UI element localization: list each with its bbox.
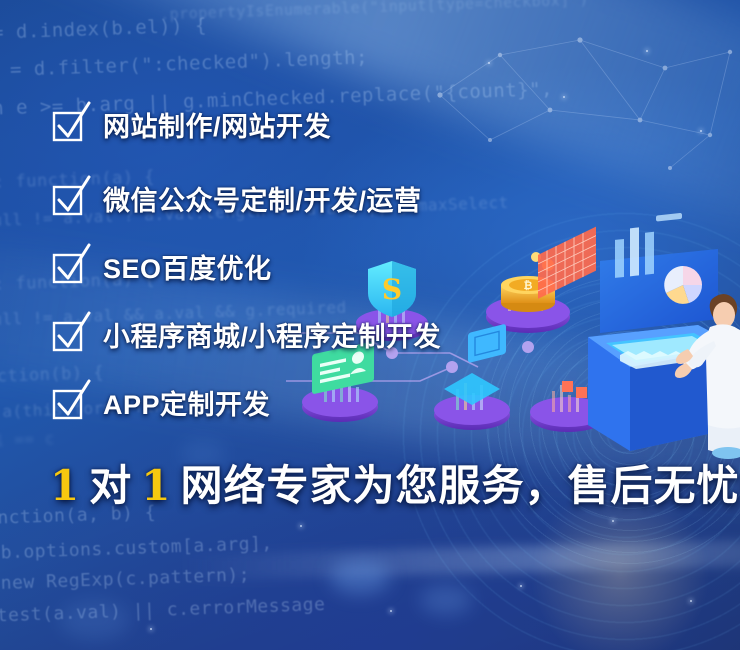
service-item-label: APP定制开发 (103, 383, 270, 422)
service-item-app[interactable]: APP定制开发 (52, 378, 712, 426)
checkbox-checked-icon (52, 252, 81, 281)
service-item-label: SEO百度优化 (103, 247, 272, 286)
checkbox-checked-icon (52, 388, 81, 417)
checkbox-checked-icon (52, 110, 81, 139)
service-item-label: 微信公众号定制/开发/运营 (103, 179, 422, 218)
checkbox-checked-icon (52, 184, 81, 213)
slogan: 1 对 1 网络专家为您服务，售后无忧! (50, 452, 740, 513)
service-item-wechat[interactable]: 微信公众号定制/开发/运营 (52, 174, 712, 222)
service-item-miniapp[interactable]: 小程序商城/小程序定制开发 (52, 310, 712, 358)
checkbox-checked-icon (52, 320, 81, 349)
slogan-tail-text: 网络专家为您服务，售后无忧! (180, 452, 740, 513)
service-item-label: 网站制作/网站开发 (103, 105, 331, 144)
service-item-website[interactable]: 网站制作/网站开发 (52, 100, 712, 148)
service-list: 网站制作/网站开发 微信公众号定制/开发/运营 (52, 100, 712, 446)
service-item-label: 小程序商城/小程序定制开发 (103, 315, 441, 354)
promo-banner: .propertyIsEnumerable("input[type=checkb… (0, 0, 740, 650)
slogan-number-first: 1 (50, 461, 80, 510)
content-layer: 网站制作/网站开发 微信公众号定制/开发/运营 (0, 0, 740, 650)
slogan-word-mid: 对 (89, 452, 132, 513)
service-item-seo[interactable]: SEO百度优化 (52, 242, 712, 290)
slogan-number-second: 1 (141, 461, 171, 510)
